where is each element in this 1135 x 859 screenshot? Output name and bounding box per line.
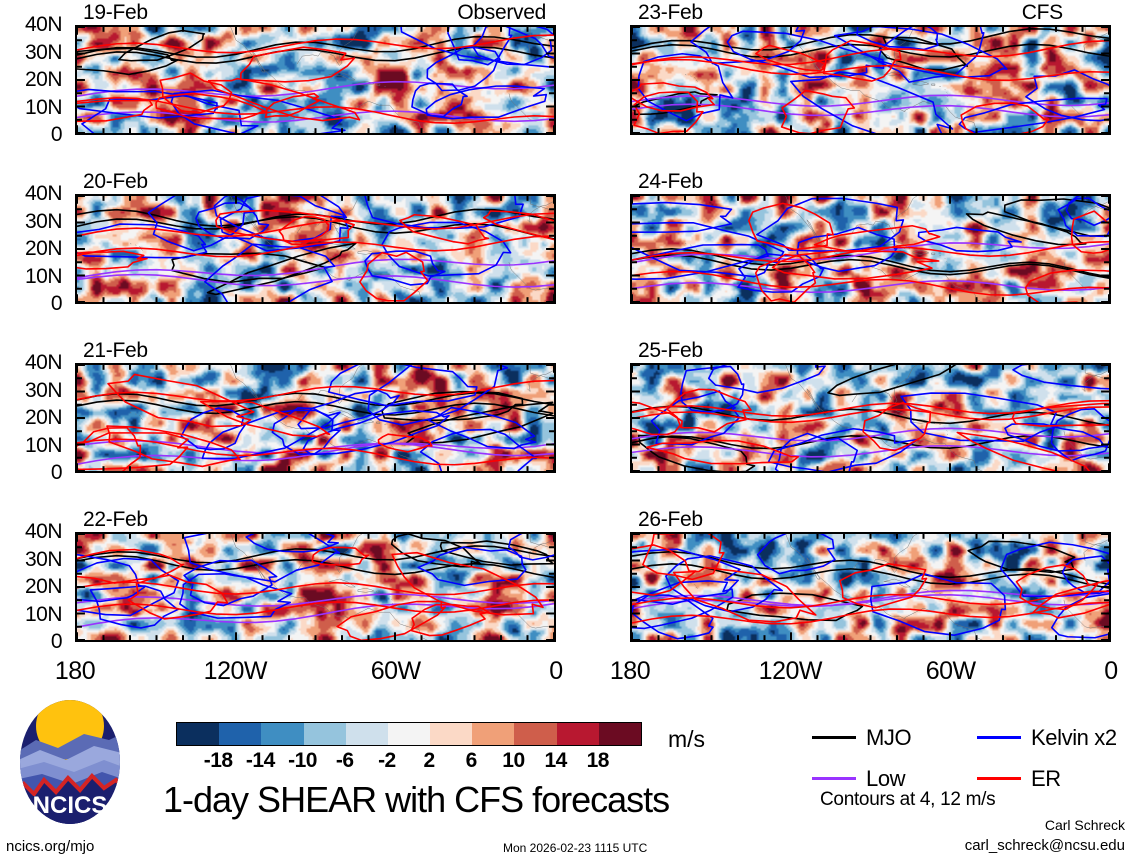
panel-date-label-26-feb: 26-Feb <box>638 509 703 530</box>
panel-date-label-20-feb: 20-Feb <box>83 171 148 192</box>
colorbar-swatch <box>557 723 599 745</box>
colorbar-swatch <box>472 723 514 745</box>
map-panel-21-feb <box>75 363 556 473</box>
colorbar-swatch <box>177 723 219 745</box>
legend-label: MJO <box>866 727 911 749</box>
footer-site-link[interactable]: ncics.org/mjo <box>6 839 94 854</box>
panel-ticks <box>77 27 554 133</box>
y-axis-tick-label: 20N <box>0 576 62 597</box>
map-panel-25-feb <box>630 363 1111 473</box>
map-panel-19-feb <box>75 25 556 135</box>
y-axis-tick-label: 40N <box>0 352 62 373</box>
y-axis-tick-label: 30N <box>0 211 62 232</box>
panel-ticks <box>77 365 554 471</box>
y-axis-tick-label: 0 <box>0 124 62 145</box>
x-axis-tick-label: 60W <box>336 659 456 684</box>
legend-line-swatch <box>977 777 1021 780</box>
y-axis-tick-label: 30N <box>0 380 62 401</box>
legend-label: Low <box>866 768 905 790</box>
panel-ticks <box>77 196 554 302</box>
colorbar-swatch <box>304 723 346 745</box>
colorbar-units-label: m/s <box>668 728 705 751</box>
colorbar-swatch <box>346 723 388 745</box>
footer-author: Carl Schreck <box>835 818 1125 832</box>
y-axis-tick-label: 10N <box>0 97 62 118</box>
panel-corner-label: Observed <box>457 2 546 23</box>
panel-date-label-24-feb: 24-Feb <box>638 171 703 192</box>
legend-line-swatch <box>977 736 1021 739</box>
map-panel-26-feb <box>630 532 1111 642</box>
x-axis-tick-label: 120W <box>175 659 295 684</box>
panel-ticks <box>77 534 554 640</box>
y-axis-tick-label: 10N <box>0 604 62 625</box>
map-panel-22-feb <box>75 532 556 642</box>
panel-ticks <box>632 365 1109 471</box>
ncics-logo: NCICS <box>14 696 126 828</box>
map-panel-24-feb <box>630 194 1111 304</box>
x-axis-tick-label: 0 <box>1051 659 1135 684</box>
colorbar-swatch <box>261 723 303 745</box>
colorbar-tick-label: 18 <box>568 750 628 771</box>
panel-ticks <box>632 27 1109 133</box>
y-axis-tick-label: 0 <box>0 293 62 314</box>
panel-date-label-19-feb: 19-Feb <box>83 2 148 23</box>
colorbar-swatch <box>599 723 641 745</box>
panel-ticks <box>632 534 1109 640</box>
y-axis-tick-label: 40N <box>0 183 62 204</box>
map-panel-23-feb <box>630 25 1111 135</box>
x-axis-tick-label: 180 <box>15 659 135 684</box>
y-axis-tick-label: 40N <box>0 521 62 542</box>
y-axis-tick-label: 30N <box>0 42 62 63</box>
legend-label: Kelvin x2 <box>1031 727 1117 749</box>
contours-note: Contours at 4, 12 m/s <box>820 790 995 809</box>
y-axis-tick-label: 20N <box>0 407 62 428</box>
footer-email[interactable]: carl_schreck@ncsu.edu <box>805 838 1125 853</box>
y-axis-tick-label: 20N <box>0 69 62 90</box>
y-axis-tick-label: 10N <box>0 435 62 456</box>
panel-date-label-21-feb: 21-Feb <box>83 340 148 361</box>
panel-ticks <box>632 196 1109 302</box>
y-axis-tick-label: 30N <box>0 549 62 570</box>
colorbar-swatch <box>430 723 472 745</box>
y-axis-tick-label: 0 <box>0 631 62 652</box>
colorbar-swatch <box>219 723 261 745</box>
panel-date-label-23-feb: 23-Feb <box>638 2 703 23</box>
y-axis-tick-label: 40N <box>0 14 62 35</box>
x-axis-tick-label: 180 <box>570 659 690 684</box>
x-axis-tick-label: 120W <box>730 659 850 684</box>
y-axis-tick-label: 20N <box>0 238 62 259</box>
colorbar-swatch <box>514 723 556 745</box>
ncics-logo-text: NCICS <box>14 792 126 820</box>
colorbar <box>176 722 642 746</box>
legend-label: ER <box>1031 768 1061 790</box>
panel-date-label-25-feb: 25-Feb <box>638 340 703 361</box>
colorbar-swatch <box>388 723 430 745</box>
y-axis-tick-label: 10N <box>0 266 62 287</box>
y-axis-tick-label: 0 <box>0 462 62 483</box>
map-panel-20-feb <box>75 194 556 304</box>
x-axis-tick-label: 60W <box>891 659 1011 684</box>
footer-timestamp: Mon 2026-02-23 1115 UTC <box>503 842 647 854</box>
legend-line-swatch <box>812 777 856 780</box>
panel-date-label-22-feb: 22-Feb <box>83 509 148 530</box>
legend-line-swatch <box>812 736 856 739</box>
page-title: 1-day SHEAR with CFS forecasts <box>163 782 669 818</box>
